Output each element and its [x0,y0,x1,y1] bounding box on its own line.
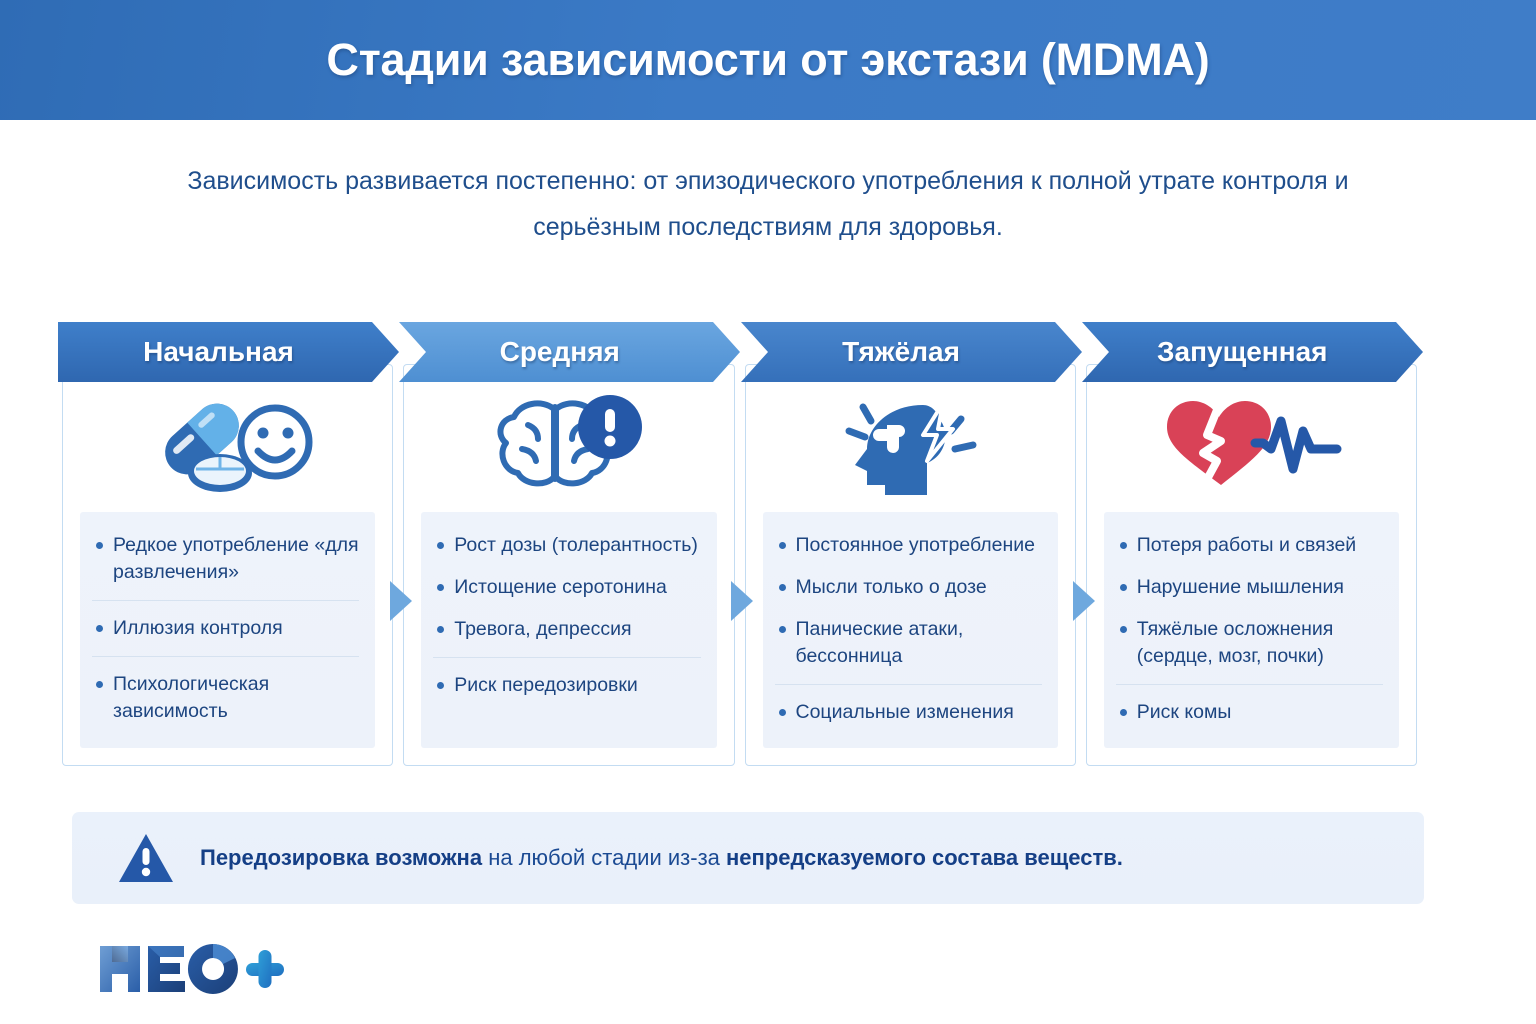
warning-bold-end: непредсказуемого состава веществ. [726,845,1123,870]
page-subtitle: Зависимость развивается постепенно: от э… [155,158,1381,250]
warning-banner: Передозировка возможна на любой стадии и… [72,812,1424,904]
head-puzzle-lightning-icon [827,391,995,495]
stage-bullets-2: Рост дозы (толерантность) Истощение серо… [421,512,716,748]
stages-container: Начальная [58,322,1423,766]
stage-column-2: Средняя Рост дозы (толерантность) [399,322,740,766]
pills-smiley-icon [144,389,314,497]
stage-connector-arrow-3-icon [1071,580,1097,622]
stage-label-4: Запущенная [1157,336,1328,368]
stage-icon-3 [741,384,1082,502]
neo-plus-logo[interactable] [96,938,286,1000]
stage-banner-4[interactable]: Запущенная [1082,322,1423,382]
warning-triangle-icon [118,832,174,884]
warning-text: Передозировка возможна на любой стадии и… [200,843,1123,873]
stage-label-2: Средняя [500,336,620,368]
stage-bullets-3: Постоянное употребление Мысли только о д… [763,512,1058,748]
warning-bold-start: Передозировка возможна [200,845,482,870]
stage-label-1: Начальная [143,336,294,368]
stage-banner-3[interactable]: Тяжёлая [741,322,1082,382]
list-item: Мысли только о дозе [775,574,1042,601]
list-item: Рост дозы (толерантность) [433,532,700,559]
list-item: Тяжёлые осложнения (сердце, мозг, почки) [1116,616,1383,685]
stage-icon-4 [1082,384,1423,502]
list-item: Психологическая зависимость [92,671,359,725]
broken-heart-ecg-icon [1159,391,1345,495]
stage-connector-arrow-1-icon [388,580,414,622]
page-title: Стадии зависимости от экстази (MDMA) [326,34,1209,86]
stage-column-4: Запущенная Потеря работы и связей Наруше… [1082,322,1423,766]
stage-banner-1[interactable]: Начальная [58,322,399,382]
list-item: Риск передозировки [433,672,700,699]
list-item: Постоянное употребление [775,532,1042,559]
stage-column-1: Начальная [58,322,399,766]
page-header: Стадии зависимости от экстази (MDMA) [0,0,1536,120]
list-item: Панические атаки, бессонница [775,616,1042,685]
list-item: Тревога, депрессия [433,616,700,658]
list-item: Социальные изменения [775,699,1042,726]
neo-plus-logo-icon [96,938,286,1000]
list-item: Редкое употребление «для развлечения» [92,532,359,601]
warning-middle: на любой стадии из-за [482,845,726,870]
brain-alert-icon [492,391,648,495]
stage-bullets-4: Потеря работы и связей Нарушение мышлени… [1104,512,1399,748]
list-item: Риск комы [1116,699,1383,726]
stage-bullets-1: Редкое употребление «для развлечения» Ил… [80,512,375,748]
list-item: Нарушение мышления [1116,574,1383,601]
list-item: Потеря работы и связей [1116,532,1383,559]
list-item: Иллюзия контроля [92,615,359,657]
stage-label-3: Тяжёлая [842,336,960,368]
stage-banner-2[interactable]: Средняя [399,322,740,382]
stage-column-3: Тяжёлая Постоянное употребление Мысли то… [741,322,1082,766]
stage-icon-1 [58,384,399,502]
stage-connector-arrow-2-icon [729,580,755,622]
list-item: Истощение серотонина [433,574,700,601]
stage-icon-2 [399,384,740,502]
